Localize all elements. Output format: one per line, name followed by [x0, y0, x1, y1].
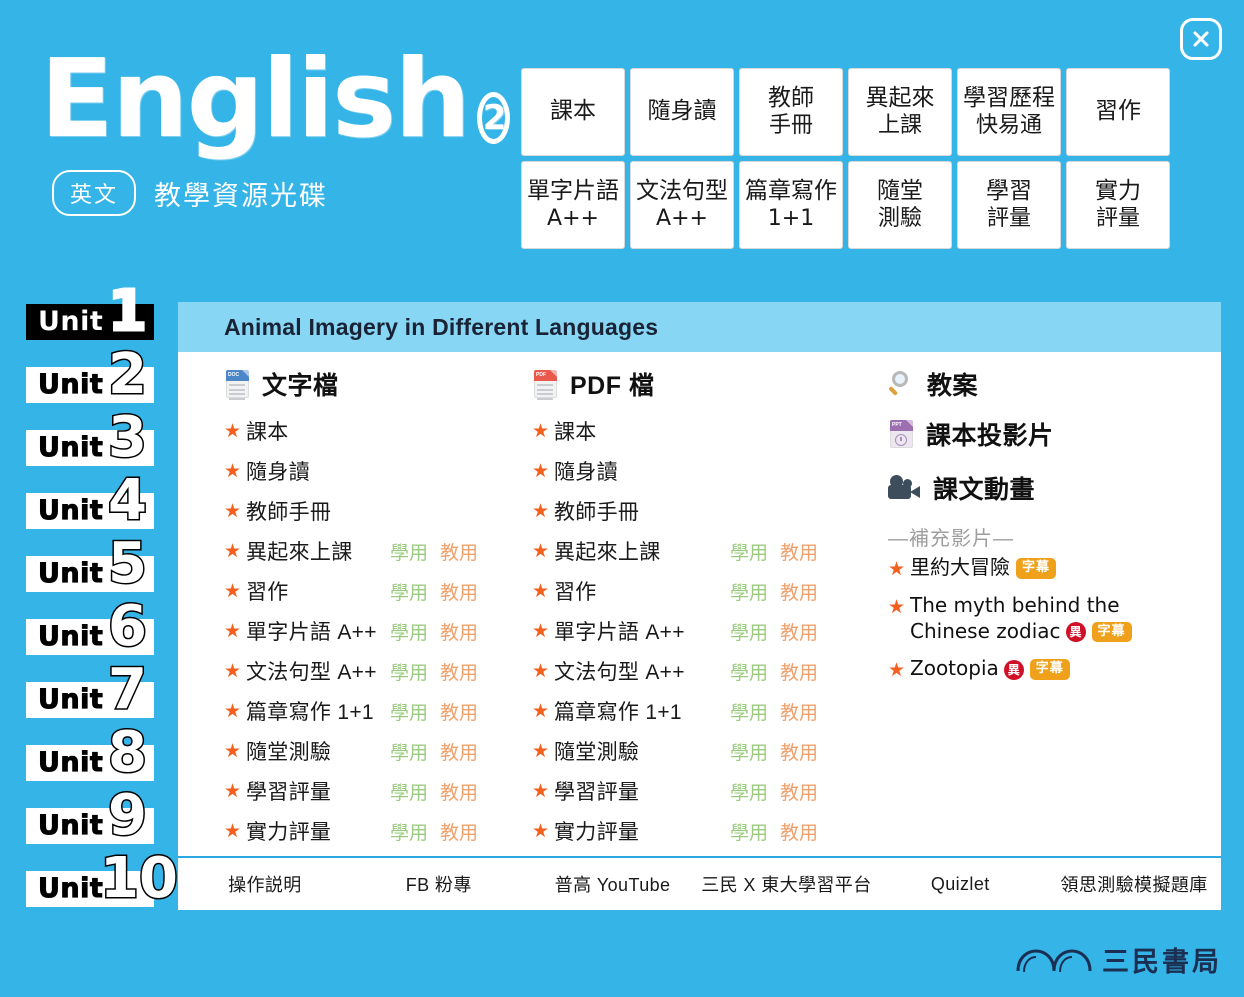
star-icon: ★ [224, 820, 246, 843]
footer-link-0[interactable]: 操作説明 [178, 871, 352, 897]
column-pdf-header: PDF PDF 檔 [532, 366, 848, 402]
doc-row-4-student[interactable]: 學用 [390, 578, 428, 605]
column-media: 教案 PPT 課本投影片 課文動畫 —補充影片— ★ 里約大冒險字幕 [848, 366, 1178, 856]
doc-row-3-teacher[interactable]: 教用 [440, 538, 478, 565]
star-icon: ★ [224, 500, 246, 523]
topmenu-item-1-line1: 隨身讀 [648, 98, 717, 125]
subtitle-badge: 字幕 [1016, 558, 1056, 579]
lesson-plan-entry[interactable]: 教案 [888, 366, 1178, 402]
doc-row-5-label: 單字片語 A++ [246, 616, 377, 646]
doc-row-8-student[interactable]: 學用 [390, 738, 428, 765]
pdf-row-1-label: 隨身讀 [554, 456, 618, 486]
main-panel: Animal Imagery in Different Languages DO… [178, 302, 1221, 910]
column-pdf-title: PDF 檔 [570, 366, 654, 402]
doc-row-3-label: 異起來上課 [246, 536, 353, 566]
topmenu-item-11[interactable]: 實力 評量 [1066, 161, 1170, 249]
publisher-name: 三民書局 [1102, 940, 1222, 979]
pdf-row-6-teacher[interactable]: 教用 [780, 658, 818, 685]
topmenu-item-8-line2: 1+1 [768, 206, 814, 232]
pdf-row-10-label: 實力評量 [554, 816, 639, 846]
sidebar-item-unit-8[interactable]: Unit 8 [0, 737, 176, 800]
topmenu-item-4-line1: 學習歷程 [963, 85, 1055, 112]
star-icon: ★ [224, 660, 246, 683]
topmenu-item-4-line2: 快易通 [976, 113, 1042, 139]
video-row-1-title: The myth behind the Chinese zodiac [910, 593, 1120, 643]
unit-label-9: Unit [38, 810, 103, 841]
star-icon: ★ [532, 740, 554, 763]
video-row-1[interactable]: ★ The myth behind the Chinese zodiac異字幕 [888, 593, 1178, 644]
doc-row-7-teacher[interactable]: 教用 [440, 698, 478, 725]
topmenu-item-0-line1: 課本 [550, 98, 596, 125]
doc-row-1-label: 隨身讀 [246, 456, 310, 486]
pdf-row-2-label: 教師手冊 [554, 496, 639, 526]
star-icon: ★ [888, 558, 910, 581]
pdf-row-6-label: 文法句型 A++ [554, 656, 685, 686]
doc-row-2[interactable]: ★ 教師手冊 [224, 491, 508, 531]
pdf-row-4-label: 習作 [554, 576, 597, 606]
doc-row-8[interactable]: ★ 隨堂測驗 學用教用 [224, 731, 508, 771]
doc-row-6-student[interactable]: 學用 [390, 658, 428, 685]
pdf-row-9-teacher[interactable]: 教用 [780, 778, 818, 805]
doc-row-3[interactable]: ★ 異起來上課 學用教用 [224, 531, 508, 571]
star-icon: ★ [224, 700, 246, 723]
unit-label-4: Unit [38, 495, 103, 526]
app-title: English 2 [40, 46, 510, 154]
yi-badge: 異 [1066, 622, 1086, 642]
topmenu-item-9-line2: 測驗 [878, 206, 922, 232]
unit-number-7: 7 [108, 662, 147, 718]
star-icon: ★ [888, 596, 910, 619]
panel-header: Animal Imagery in Different Languages [178, 302, 1221, 352]
topmenu-item-11-line1: 實力 [1095, 178, 1141, 205]
pdf-row-3-student[interactable]: 學用 [730, 538, 768, 565]
column-doc: DOC 文字檔 ★ 課本 ★ 隨身讀 ★ 教師手冊 ★ [178, 366, 508, 856]
brand-subline: 英文 教學資源光碟 [52, 170, 510, 216]
star-icon: ★ [224, 580, 246, 603]
magnifier-icon [888, 369, 916, 399]
topmenu-item-10-line2: 評量 [987, 206, 1031, 232]
wave-logo-icon [1016, 945, 1094, 975]
video-row-0[interactable]: ★ 里約大冒險字幕 [888, 555, 1178, 581]
doc-row-6[interactable]: ★ 文法句型 A++ 學用教用 [224, 651, 508, 691]
star-icon: ★ [224, 780, 246, 803]
unit-number-6: 6 [108, 599, 147, 655]
doc-row-10[interactable]: ★ 實力評量 學用教用 [224, 811, 508, 851]
doc-row-5-student[interactable]: 學用 [390, 618, 428, 645]
pdf-row-6-student[interactable]: 學用 [730, 658, 768, 685]
doc-row-10-teacher[interactable]: 教用 [440, 818, 478, 845]
topmenu-item-7-line1: 文法句型 [636, 178, 728, 205]
column-doc-title: 文字檔 [262, 366, 339, 402]
doc-row-7-label: 篇章寫作 1+1 [246, 696, 374, 726]
topmenu-item-6-line2: A++ [547, 206, 599, 232]
pdf-row-7-student[interactable]: 學用 [730, 698, 768, 725]
brand-block: English 2 英文 教學資源光碟 [40, 46, 510, 216]
pdf-row-10-teacher[interactable]: 教用 [780, 818, 818, 845]
pdf-row-4-teacher[interactable]: 教用 [780, 578, 818, 605]
unit-label-3: Unit [38, 432, 103, 463]
pdf-row-7[interactable]: ★ 篇章寫作 1+1 學用教用 [532, 691, 848, 731]
video-camera-icon [888, 474, 922, 502]
unit-number-10: 10 [100, 851, 178, 907]
doc-row-7-student[interactable]: 學用 [390, 698, 428, 725]
footer-link-3[interactable]: 三民 X 東大學習平台 [699, 871, 873, 897]
star-icon: ★ [532, 420, 554, 443]
star-icon: ★ [224, 460, 246, 483]
footer-link-5[interactable]: 領思測驗模擬題庫 [1047, 871, 1221, 897]
sidebar-item-unit-3[interactable]: Unit 3 [0, 422, 176, 485]
doc-row-6-teacher[interactable]: 教用 [440, 658, 478, 685]
volume-badge: 2 [477, 92, 510, 144]
doc-row-9-teacher[interactable]: 教用 [440, 778, 478, 805]
pdf-row-8[interactable]: ★ 隨堂測驗 學用教用 [532, 731, 848, 771]
app-title-text: English [40, 46, 469, 154]
unit-number-2: 2 [108, 347, 147, 403]
pdf-row-9-student[interactable]: 學用 [730, 778, 768, 805]
video-row-2-title: Zootopia [910, 656, 999, 680]
yi-badge: 異 [1004, 660, 1024, 680]
topmenu-item-7-line2: A++ [656, 206, 708, 232]
sidebar-item-unit-7[interactable]: Unit 7 [0, 674, 176, 737]
star-icon: ★ [532, 580, 554, 603]
publisher-logo: 三民書局 [1016, 940, 1222, 979]
doc-row-8-teacher[interactable]: 教用 [440, 738, 478, 765]
topmenu-item-2-line2: 手冊 [769, 113, 813, 139]
sidebar-item-unit-2[interactable]: Unit 2 [0, 359, 176, 422]
topmenu-item-5-line1: 習作 [1095, 98, 1141, 125]
pdf-row-7-teacher[interactable]: 教用 [780, 698, 818, 725]
star-icon: ★ [224, 420, 246, 443]
pdf-row-3-label: 異起來上課 [554, 536, 661, 566]
topmenu-item-6[interactable]: 單字片語 A++ [521, 161, 625, 249]
topmenu-item-2[interactable]: 教師 手冊 [739, 68, 843, 156]
doc-row-10-student[interactable]: 學用 [390, 818, 428, 845]
unit-number-4: 4 [108, 473, 147, 529]
video-row-0-title: 里約大冒險 [910, 555, 1010, 579]
video-row-2[interactable]: ★ Zootopia異字幕 [888, 656, 1178, 682]
pdf-row-3-teacher[interactable]: 教用 [780, 538, 818, 565]
unit-number-5: 5 [108, 536, 147, 592]
doc-row-1[interactable]: ★ 隨身讀 [224, 451, 508, 491]
pdf-row-4-student[interactable]: 學用 [730, 578, 768, 605]
doc-row-9[interactable]: ★ 學習評量 學用教用 [224, 771, 508, 811]
subtitle-badge: 字幕 [1092, 622, 1132, 643]
sidebar-item-unit-10[interactable]: Unit 10 [0, 863, 176, 926]
unit-label-2: Unit [38, 369, 103, 400]
star-icon: ★ [532, 460, 554, 483]
supplement-header: —補充影片— [888, 522, 1178, 551]
topmenu-item-4[interactable]: 學習歷程 快易通 [957, 68, 1061, 156]
doc-row-10-label: 實力評量 [246, 816, 331, 846]
slides-label: 課本投影片 [926, 416, 1054, 452]
sidebar-item-unit-1[interactable]: Unit 1 [0, 296, 176, 359]
lesson-plan-label: 教案 [927, 366, 978, 402]
subject-badge: 英文 [52, 170, 136, 216]
pdf-row-1[interactable]: ★ 隨身讀 [532, 451, 848, 491]
doc-row-8-label: 隨堂測驗 [246, 736, 331, 766]
column-doc-header: DOC 文字檔 [224, 366, 508, 402]
doc-row-5-teacher[interactable]: 教用 [440, 618, 478, 645]
star-icon: ★ [532, 500, 554, 523]
pdf-row-8-label: 隨堂測驗 [554, 736, 639, 766]
pdf-row-3[interactable]: ★ 異起來上課 學用教用 [532, 531, 848, 571]
star-icon: ★ [532, 540, 554, 563]
unit-label-5: Unit [38, 558, 103, 589]
topmenu-item-6-line1: 單字片語 [527, 178, 619, 205]
pdf-row-0-label: 課本 [554, 416, 597, 446]
panel-footer: 操作説明 FB 粉專 普高 YouTube 三民 X 東大學習平台 Quizle… [178, 856, 1221, 910]
pdf-row-8-teacher[interactable]: 教用 [780, 738, 818, 765]
topmenu-item-7[interactable]: 文法句型 A++ [630, 161, 734, 249]
footer-link-4[interactable]: Quizlet [873, 874, 1047, 895]
unit-label-7: Unit [38, 684, 103, 715]
pdf-row-6[interactable]: ★ 文法句型 A++ 學用教用 [532, 651, 848, 691]
unit-number-8: 8 [108, 725, 147, 781]
close-button[interactable] [1180, 18, 1222, 60]
doc-row-4[interactable]: ★ 習作 學用教用 [224, 571, 508, 611]
pdf-row-10-student[interactable]: 學用 [730, 818, 768, 845]
star-icon: ★ [532, 660, 554, 683]
topmenu-item-9[interactable]: 隨堂 測驗 [848, 161, 952, 249]
pdf-row-9[interactable]: ★ 學習評量 學用教用 [532, 771, 848, 811]
topmenu-item-3-line1: 異起來 [866, 85, 935, 112]
pdf-row-5-student[interactable]: 學用 [730, 618, 768, 645]
sidebar-item-unit-4[interactable]: Unit 4 [0, 485, 176, 548]
page-title: Animal Imagery in Different Languages [224, 314, 658, 341]
panel-body: DOC 文字檔 ★ 課本 ★ 隨身讀 ★ 教師手冊 ★ [178, 352, 1221, 856]
star-icon: ★ [532, 700, 554, 723]
footer-link-2[interactable]: 普高 YouTube [526, 871, 700, 897]
column-pdf: PDF PDF 檔 ★ 課本 ★ 隨身讀 ★ 教師手冊 ★ [508, 366, 848, 856]
topmenu-item-0[interactable]: 課本 [521, 68, 625, 156]
pdf-row-5-teacher[interactable]: 教用 [780, 618, 818, 645]
doc-row-9-label: 學習評量 [246, 776, 331, 806]
slides-entry[interactable]: PPT 課本投影片 [888, 416, 1178, 452]
subtitle-badge: 字幕 [1030, 659, 1070, 680]
animation-label: 課文動畫 [933, 470, 1035, 506]
ppt-icon: PPT [888, 418, 915, 450]
doc-row-4-label: 習作 [246, 576, 289, 606]
document-icon: DOC [224, 368, 251, 400]
pdf-row-5-label: 單字片語 A++ [554, 616, 685, 646]
star-icon: ★ [224, 620, 246, 643]
topmenu-item-11-line2: 評量 [1096, 206, 1140, 232]
topmenu-item-1[interactable]: 隨身讀 [630, 68, 734, 156]
doc-row-5[interactable]: ★ 單字片語 A++ 學用教用 [224, 611, 508, 651]
doc-row-9-student[interactable]: 學用 [390, 778, 428, 805]
footer-link-1[interactable]: FB 粉專 [352, 871, 526, 897]
topmenu-item-8-line1: 篇章寫作 [745, 178, 837, 205]
unit-label-6: Unit [38, 621, 103, 652]
star-icon: ★ [224, 740, 246, 763]
doc-row-2-label: 教師手冊 [246, 496, 331, 526]
unit-number-9: 9 [108, 788, 147, 844]
star-icon: ★ [888, 659, 910, 682]
pdf-row-10[interactable]: ★ 實力評量 學用教用 [532, 811, 848, 851]
topmenu-item-10-line1: 學習 [986, 178, 1032, 205]
animation-entry[interactable]: 課文動畫 [888, 470, 1178, 506]
unit-label-8: Unit [38, 747, 103, 778]
topmenu-item-9-line1: 隨堂 [877, 178, 923, 205]
topmenu-item-2-line1: 教師 [768, 85, 814, 112]
unit-sidebar: Unit 1 Unit 2 Unit 3 Unit 4 Unit 5 Unit … [0, 296, 176, 926]
topmenu-item-10[interactable]: 學習 評量 [957, 161, 1061, 249]
star-icon: ★ [532, 780, 554, 803]
doc-row-4-teacher[interactable]: 教用 [440, 578, 478, 605]
topmenu-item-3[interactable]: 異起來 上課 [848, 68, 952, 156]
doc-row-6-label: 文法句型 A++ [246, 656, 377, 686]
pdf-row-5[interactable]: ★ 單字片語 A++ 學用教用 [532, 611, 848, 651]
star-icon: ★ [532, 620, 554, 643]
pdf-row-9-label: 學習評量 [554, 776, 639, 806]
pdf-row-8-student[interactable]: 學用 [730, 738, 768, 765]
top-menu-grid: 課本 隨身讀 教師 手冊 異起來 上課 學習歷程 快易通 習作 單字片語 A++… [521, 68, 1170, 249]
pdf-row-4[interactable]: ★ 習作 學用教用 [532, 571, 848, 611]
sidebar-item-unit-5[interactable]: Unit 5 [0, 548, 176, 611]
star-icon: ★ [224, 540, 246, 563]
doc-row-7[interactable]: ★ 篇章寫作 1+1 學用教用 [224, 691, 508, 731]
unit-number-1: 1 [108, 284, 147, 340]
doc-row-0-label: 課本 [246, 416, 289, 446]
doc-row-3-student[interactable]: 學用 [390, 538, 428, 565]
topmenu-item-3-line2: 上課 [878, 113, 922, 139]
pdf-row-7-label: 篇章寫作 1+1 [554, 696, 682, 726]
topmenu-item-8[interactable]: 篇章寫作 1+1 [739, 161, 843, 249]
sidebar-item-unit-6[interactable]: Unit 6 [0, 611, 176, 674]
unit-number-3: 3 [108, 410, 147, 466]
pdf-row-2[interactable]: ★ 教師手冊 [532, 491, 848, 531]
doc-row-0[interactable]: ★ 課本 [224, 411, 508, 451]
pdf-icon: PDF [532, 368, 559, 400]
unit-label-1: Unit [38, 306, 103, 337]
pdf-row-0[interactable]: ★ 課本 [532, 411, 848, 451]
unit-label-10: Unit [38, 873, 103, 904]
star-icon: ★ [532, 820, 554, 843]
brand-tagline: 教學資源光碟 [154, 174, 328, 213]
topmenu-item-5[interactable]: 習作 [1066, 68, 1170, 156]
